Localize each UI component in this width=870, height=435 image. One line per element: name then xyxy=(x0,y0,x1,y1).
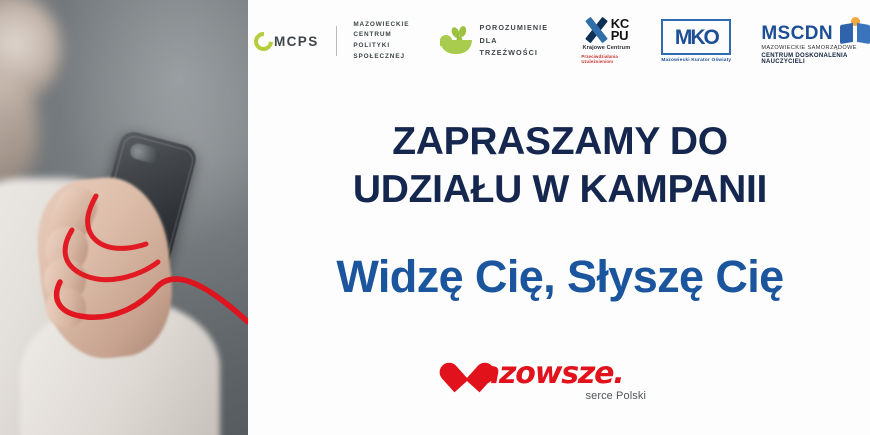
logo-mazowsze: azowsze. serce Polski xyxy=(452,352,652,402)
logo-mscdn: MSCDN MAZOWIECKIE SAMORZĄDOWE CENTRUM DO… xyxy=(761,17,870,65)
logo-mcps: MCPS MAZOWIECKIE CENTRUM POLITYKI SPOŁEC… xyxy=(254,20,410,62)
headline-line-1: ZAPRASZAMY DO xyxy=(262,118,858,166)
kcpu-x-icon xyxy=(584,18,608,42)
mcps-wordmark: MCPS xyxy=(274,34,319,49)
logo-kcpu: KC PU Krajowe Centrum Przeciwdziałania U… xyxy=(581,18,631,64)
kcpu-subtitle-2: Przeciwdziałania Uzależnieniom xyxy=(581,54,631,64)
divider xyxy=(336,26,337,56)
headline-line-2: UDZIAŁU W KAMPANII xyxy=(262,166,858,214)
campaign-name: Widzę Cię, Słyszę Cię xyxy=(262,252,858,302)
mscdn-subtitle-1: MAZOWIECKIE SAMORZĄDOWE xyxy=(761,45,857,51)
mcps-line-2: CENTRUM POLITYKI xyxy=(353,30,409,51)
open-book-icon xyxy=(840,17,870,43)
kcpu-letters-bottom: PU xyxy=(611,30,629,42)
mko-wordmark: MKO xyxy=(675,27,718,48)
mscdn-mark: MSCDN xyxy=(761,17,870,43)
photo-red-cord-icon xyxy=(0,0,248,435)
book-right-page xyxy=(857,23,870,44)
partner-logo-row: MCPS MAZOWIECKIE CENTRUM POLITYKI SPOŁEC… xyxy=(248,0,870,82)
mazowsze-wordmark: azowsze. xyxy=(452,352,652,392)
hero-photo xyxy=(0,0,248,435)
headline: ZAPRASZAMY DO UDZIAŁU W KAMPANII xyxy=(262,118,858,214)
mcps-mark: MCPS xyxy=(254,32,319,51)
mcps-c-icon xyxy=(250,28,277,55)
porozumienie-line-2: DLA TRZEŹWOŚCI xyxy=(479,35,551,60)
mscdn-wordmark: MSCDN xyxy=(761,24,833,43)
kcpu-mark: KC PU xyxy=(584,18,629,42)
kcpu-letters: KC PU xyxy=(611,18,629,41)
book-left-page xyxy=(840,23,853,44)
hand-icon xyxy=(440,40,472,54)
porozumienie-name: POROZUMIENIE DLA TRZEŹWOŚCI xyxy=(479,22,551,60)
kcpu-subtitle-1: Krajowe Centrum xyxy=(582,45,630,51)
mcps-full-name: MAZOWIECKIE CENTRUM POLITYKI SPOŁECZNEJ xyxy=(353,20,409,62)
mko-frame: MKO xyxy=(661,19,731,55)
mcps-line-1: MAZOWIECKIE xyxy=(353,20,409,31)
campaign-poster: MCPS MAZOWIECKIE CENTRUM POLITYKI SPOŁEC… xyxy=(0,0,870,435)
logo-mko: MKO Mazowiecki Kurator Oświaty xyxy=(661,19,731,63)
porozumienie-line-1: POROZUMIENIE xyxy=(479,22,551,35)
logo-porozumienie: POROZUMIENIE DLA TRZEŹWOŚCI xyxy=(440,22,552,60)
hand-with-sprout-icon xyxy=(440,26,471,56)
mko-subtitle: Mazowiecki Kurator Oświaty xyxy=(661,58,731,63)
mazowsze-wordmark-text: azowsze. xyxy=(480,356,624,391)
mcps-line-3: SPOŁECZNEJ xyxy=(353,52,409,63)
mscdn-subtitle-2: CENTRUM DOSKONALENIA NAUCZYCIELI xyxy=(761,53,870,65)
